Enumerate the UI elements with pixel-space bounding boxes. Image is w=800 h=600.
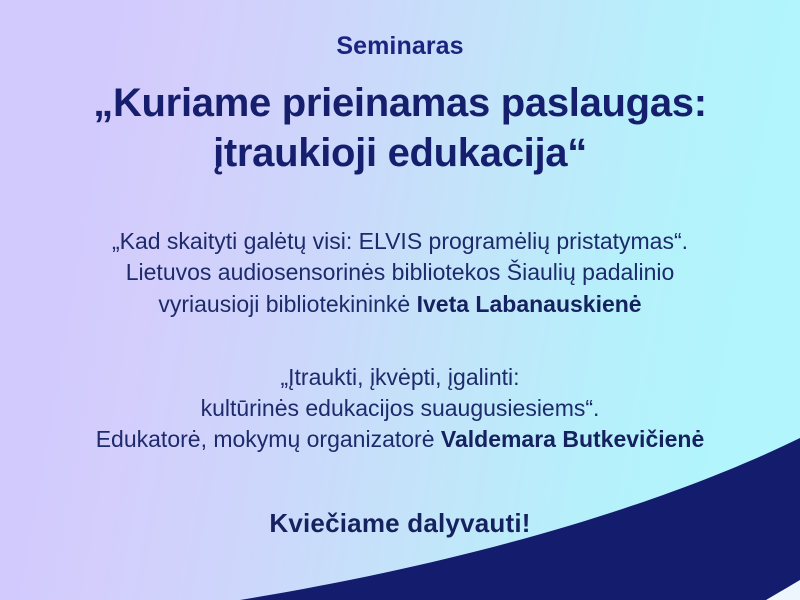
seminar-poster: Seminaras „Kuriame prieinamas paslaugas:…: [0, 0, 800, 600]
poster-title-line-2: įtraukioji edukacija“: [0, 128, 800, 178]
poster-content: Seminaras „Kuriame prieinamas paslaugas:…: [0, 0, 800, 600]
poster-title-line-1: „Kuriame prieinamas paslaugas:: [0, 78, 800, 128]
session-2-line-3: Edukatorė, mokymų organizatorė Valdemara…: [0, 424, 800, 455]
session-1-speaker: Iveta Labanauskienė: [417, 291, 642, 317]
session-2-role: Edukatorė, mokymų organizatorė: [96, 426, 441, 452]
session-2-line-1: „Įtraukti, įkvėpti, įgalinti:: [0, 362, 800, 393]
session-block-1: „Kad skaityti galėtų visi: ELVIS program…: [0, 178, 800, 320]
session-1-role: vyriausioji bibliotekininkė: [158, 291, 416, 317]
session-1-line-3: vyriausioji bibliotekininkė Iveta Labana…: [0, 289, 800, 320]
poster-kicker: Seminaras: [0, 0, 800, 61]
session-1-line-2: Lietuvos audiosensorinės bibliotekos Šia…: [0, 257, 800, 288]
session-1-line-1: „Kad skaityti galėtų visi: ELVIS program…: [0, 226, 800, 257]
session-2-line-2: kultūrinės edukacijos suaugusiesiems“.: [0, 393, 800, 424]
session-2-speaker: Valdemara Butkevičienė: [441, 426, 704, 452]
call-to-action: Kviečiame dalyvauti!: [0, 456, 800, 539]
session-block-2: „Įtraukti, įkvėpti, įgalinti: kultūrinės…: [0, 320, 800, 456]
poster-title: „Kuriame prieinamas paslaugas: įtraukioj…: [0, 61, 800, 178]
